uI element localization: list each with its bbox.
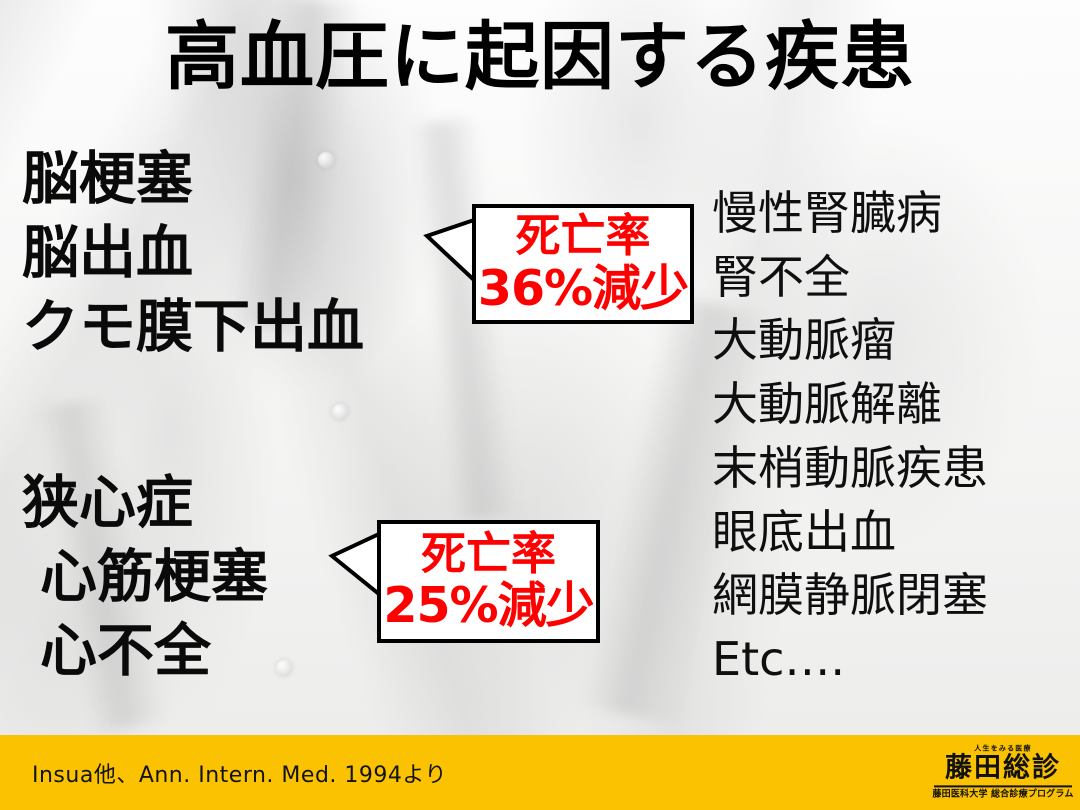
disease-item: 脳梗塞 [22, 142, 364, 216]
citation-text: Insua他、Ann. Intern. Med. 1994より [32, 757, 447, 789]
disease-item: 眼底出血 [712, 501, 988, 565]
disease-item: 脳出血 [22, 216, 364, 290]
callout-box: 死亡率 25%減少 [377, 520, 600, 643]
disease-group-cerebrovascular: 脳梗塞 脳出血 クモ膜下出血 [22, 142, 364, 364]
logo-wordmark: 藤田総診 [932, 754, 1074, 782]
disease-item: 慢性腎臓病 [712, 182, 988, 246]
page-title: 高血圧に起因する疾患 [0, 14, 1080, 101]
disease-item: 大動脈解離 [712, 373, 988, 437]
disease-group-other: 慢性腎臓病 腎不全 大動脈瘤 大動脈解離 末梢動脈疾患 眼底出血 網膜静脈閉塞 … [712, 182, 988, 692]
disease-item: 腎不全 [712, 246, 988, 310]
disease-item: クモ膜下出血 [22, 290, 364, 364]
footer-bar: Insua他、Ann. Intern. Med. 1994より 人生をみる医療 … [0, 735, 1080, 810]
disease-item: 狭心症 [22, 466, 268, 540]
disease-item: 心筋梗塞 [22, 540, 268, 614]
disease-group-cardiac: 狭心症 心筋梗塞 心不全 [22, 466, 268, 688]
disease-item: 末梢動脈疾患 [712, 437, 988, 501]
logo-tagline: 人生をみる医療 [932, 745, 1074, 752]
callout-mortality-36: 死亡率 36%減少 [425, 204, 700, 329]
disease-item: 心不全 [22, 614, 268, 688]
disease-item: Etc…. [712, 628, 988, 692]
callout-line-2: 36%減少 [478, 262, 688, 317]
shirt-button [276, 660, 292, 676]
institution-logo: 人生をみる医療 藤田総診 藤田医科大学 総合診療プログラム [932, 745, 1074, 800]
callout-line-1: 死亡率 [515, 211, 650, 261]
callout-line-1: 死亡率 [421, 529, 556, 579]
slide-canvas: 高血圧に起因する疾患 脳梗塞 脳出血 クモ膜下出血 狭心症 心筋梗塞 心不全 慢… [0, 0, 1080, 810]
callout-box: 死亡率 36%減少 [472, 204, 694, 324]
shirt-button [332, 404, 348, 420]
logo-divider [934, 785, 1072, 787]
disease-item: 大動脈瘤 [712, 309, 988, 373]
logo-subtitle: 藤田医科大学 総合診療プログラム [932, 790, 1074, 800]
callout-mortality-25: 死亡率 25%減少 [330, 520, 605, 647]
callout-line-2: 25%減少 [383, 579, 593, 634]
disease-item: 網膜静脈閉塞 [712, 564, 988, 628]
